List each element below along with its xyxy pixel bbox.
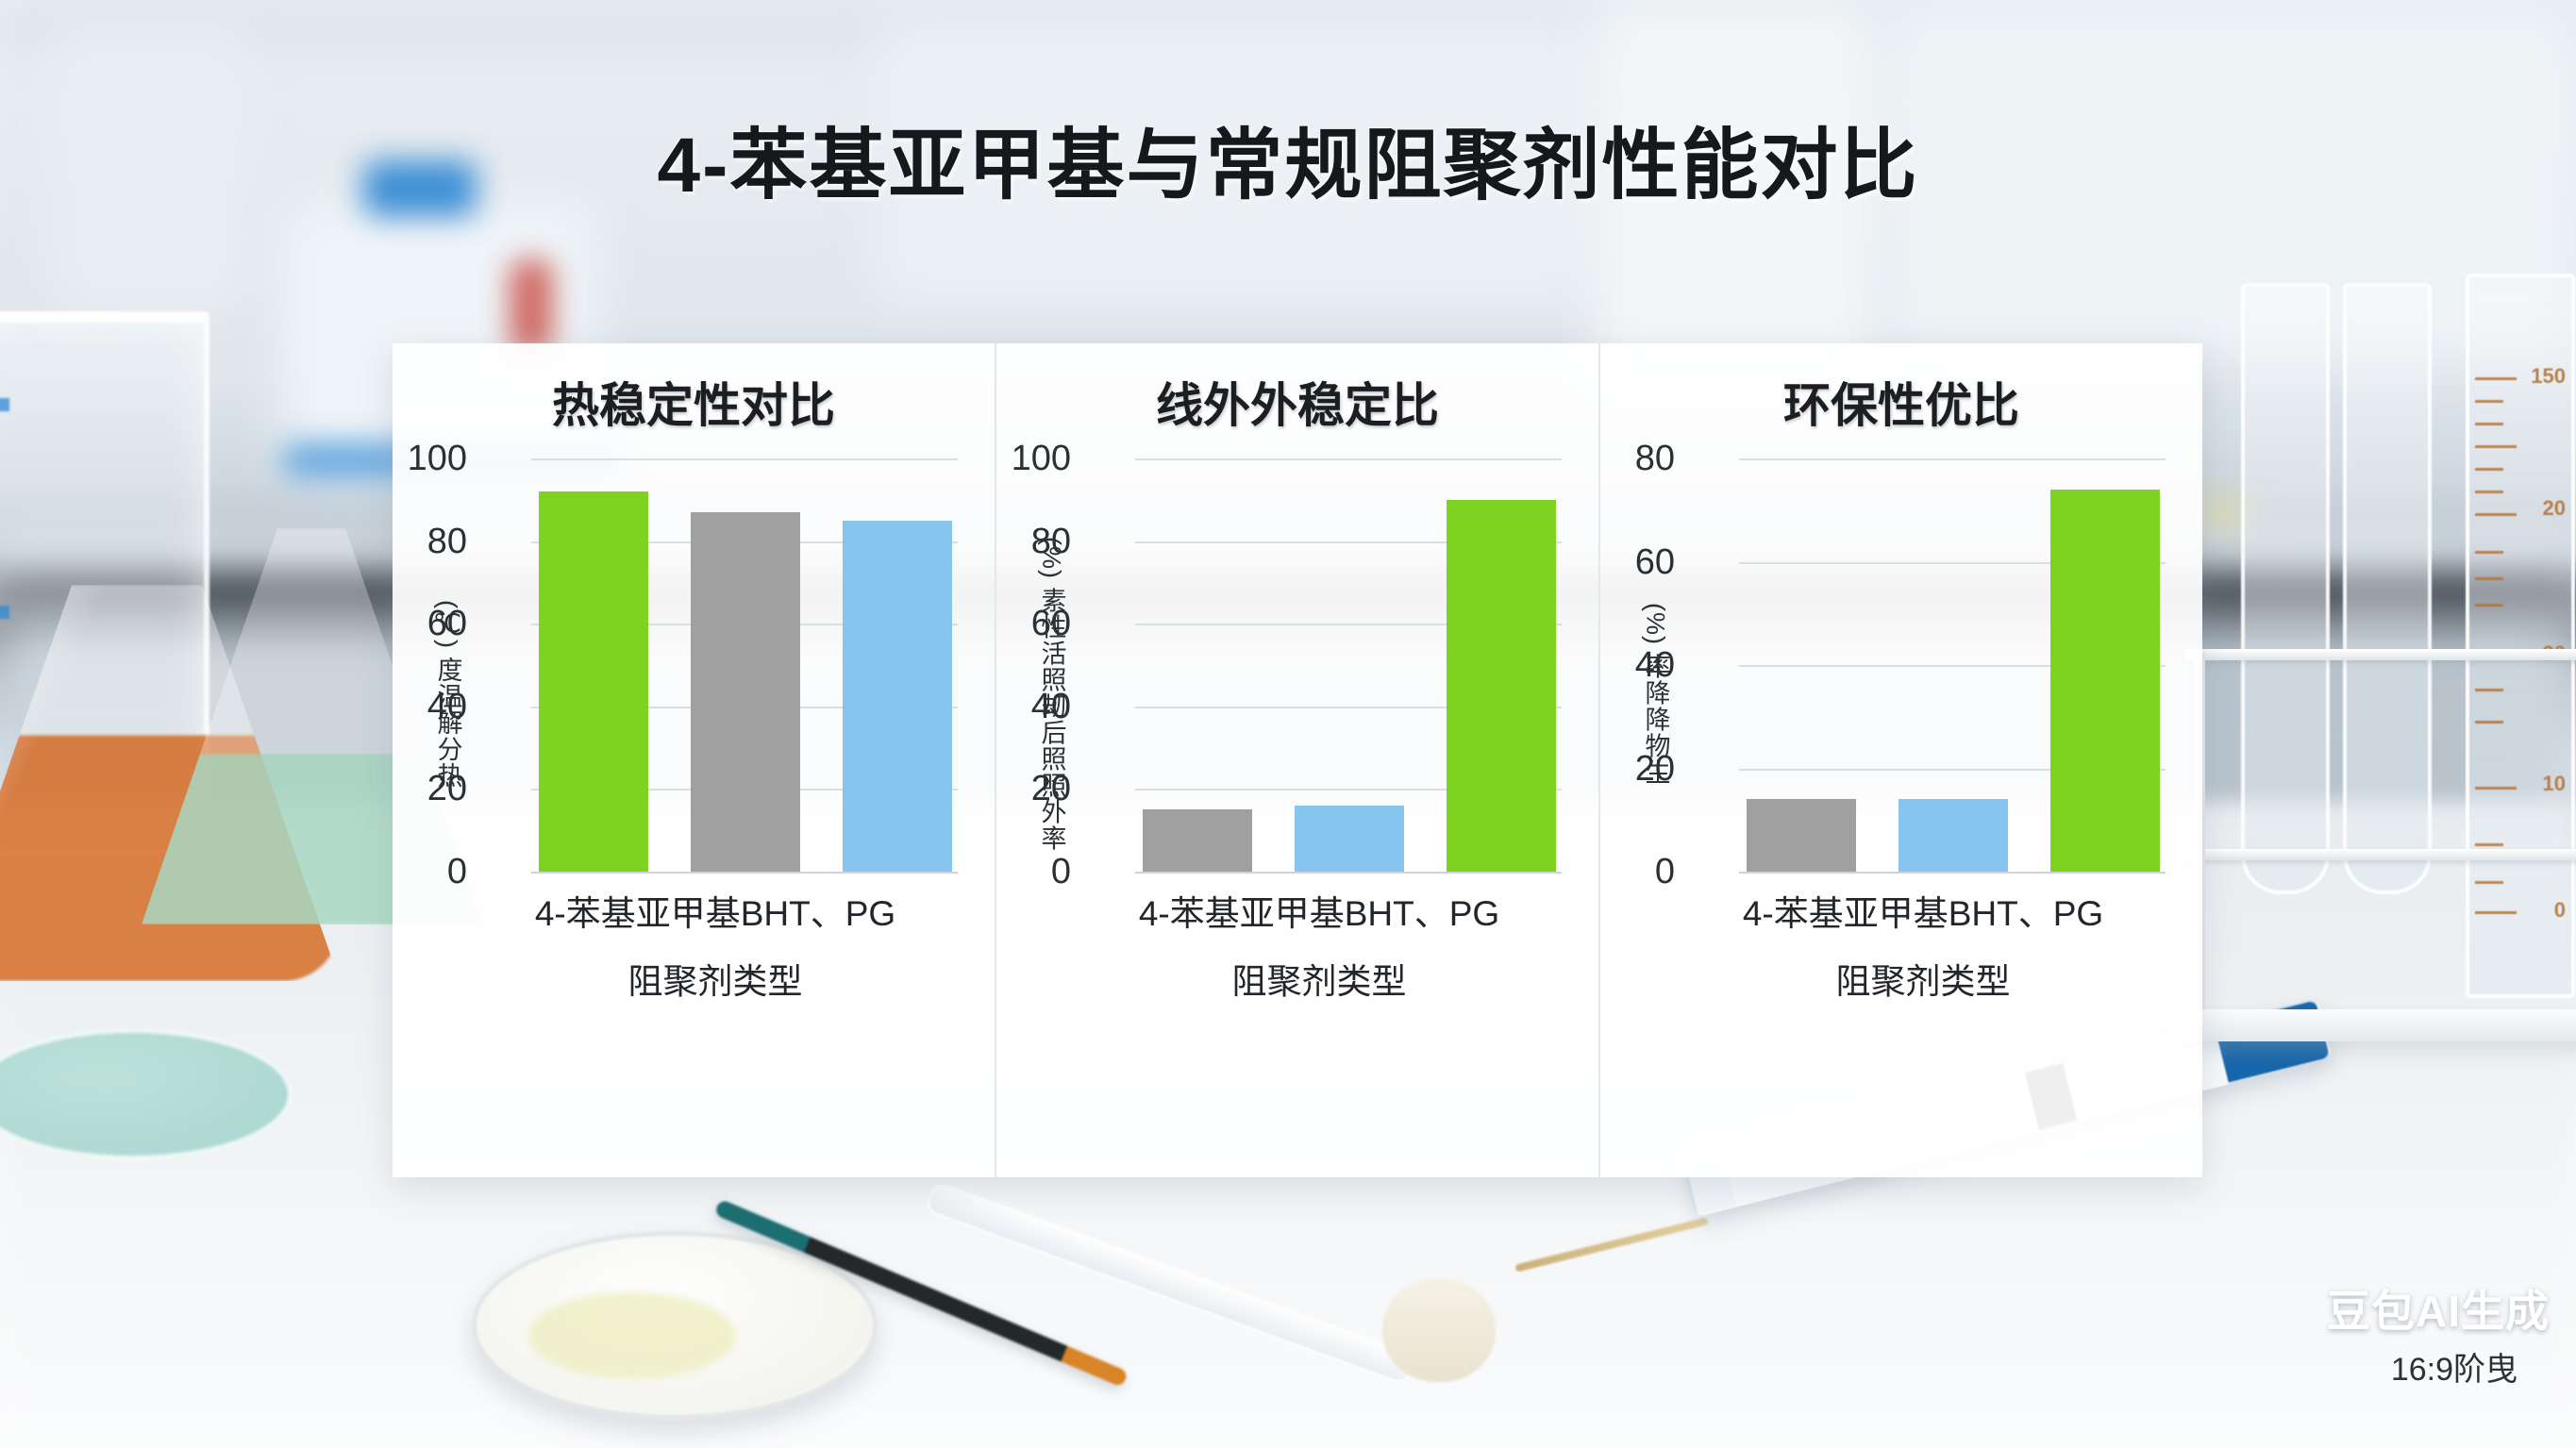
bar[interactable] — [1447, 500, 1556, 872]
y-tick-label: 80 — [1031, 524, 1071, 559]
panel-title: 线外外稳定比 — [1156, 368, 1439, 436]
bar[interactable] — [1899, 799, 2008, 872]
chart-card: 热稳定性对比 (℃) 度温解分热 100 80 60 40 20 0 4-苯基亚… — [393, 343, 2202, 1177]
bar[interactable] — [1747, 799, 1856, 872]
cylinder-tick — [2475, 377, 2517, 380]
plot-area: (℃) 度温解分热 100 80 60 40 20 0 4-苯基亚甲基BHT、P… — [429, 458, 958, 940]
cylinder-tick — [2475, 551, 2503, 554]
cylinder-tick-label: 0 — [2554, 898, 2566, 923]
y-axis: 100 80 60 40 20 0 — [473, 458, 958, 872]
bar[interactable] — [539, 491, 648, 872]
test-tube-rack: 150 20 20 10 0 — [2203, 283, 2576, 1038]
cylinder-tick-label: 20 — [2543, 496, 2566, 521]
cylinder-tick-label: 150 — [2531, 364, 2566, 389]
panel-title: 环保性优比 — [1783, 368, 2019, 436]
chart-panel-thermal-stability: 热稳定性对比 (℃) 度温解分热 100 80 60 40 20 0 4-苯基亚… — [393, 343, 995, 1177]
gridline — [1135, 872, 1562, 874]
bar[interactable] — [2050, 490, 2160, 872]
beaker-band — [0, 606, 9, 619]
x-axis-title: 阻聚剂类型 — [1681, 953, 2166, 1004]
cylinder-tick — [2475, 881, 2503, 884]
cylinder-tick — [2475, 423, 2503, 425]
gridline — [1739, 872, 2166, 874]
bar[interactable] — [843, 521, 952, 872]
pipette-bulb — [1382, 1278, 1496, 1382]
petri-liquid — [528, 1292, 736, 1379]
chart-panel-eco-friendliness: 环保性优比 (%) 率降降物生 80 60 40 20 0 4-苯基亚甲基BHT… — [1598, 343, 2202, 1177]
y-tick-label: 100 — [408, 441, 467, 476]
cylinder-tick — [2475, 445, 2517, 448]
test-tube — [2343, 283, 2432, 894]
x-axis-title: 阻聚剂类型 — [473, 953, 958, 1004]
watermark: 豆包AI生成 16:9阶曳 — [2327, 1277, 2550, 1390]
watermark-aspect-note: 16:9阶曳 — [2327, 1343, 2517, 1390]
graduated-cylinder: 150 20 20 10 0 — [2466, 274, 2575, 998]
panel-title: 热稳定性对比 — [552, 368, 835, 436]
cylinder-tick — [2475, 787, 2517, 790]
x-axis-title: 阻聚剂类型 — [1077, 953, 1562, 1004]
bar[interactable] — [1143, 809, 1252, 872]
x-axis-categories: 4-苯基亚甲基BHT、PG — [473, 885, 958, 936]
page-title: 4-苯基亚甲基与常规阻聚剂性能对比 — [0, 102, 2576, 214]
y-tick-label: 60 — [1031, 606, 1071, 641]
bar-group — [539, 458, 952, 872]
y-tick-label: 60 — [427, 606, 467, 641]
y-tick-label: 80 — [427, 524, 467, 559]
bar-group — [1747, 458, 2160, 872]
y-axis: 100 80 60 40 20 0 — [1077, 458, 1562, 872]
rack-rail-upper — [2184, 649, 2576, 660]
bar[interactable] — [1295, 806, 1404, 872]
cylinder-tick — [2475, 843, 2503, 846]
cylinder-tick — [2475, 577, 2503, 580]
rack-base — [2166, 1009, 2576, 1041]
y-tick-label: 20 — [1635, 751, 1675, 787]
cylinder-tick — [2475, 491, 2503, 493]
gridline — [531, 872, 958, 874]
y-tick-label: 40 — [1031, 689, 1071, 724]
bar-group — [1143, 458, 1556, 872]
cylinder-tick — [2475, 400, 2503, 403]
y-axis: 80 60 40 20 0 — [1681, 458, 2166, 872]
cylinder-tick — [2475, 604, 2503, 607]
plot-area: (%) 素性活照刼后照照外率 100 80 60 40 20 0 4-苯基亚甲基… — [1033, 458, 1562, 940]
y-tick-label: 0 — [447, 854, 467, 890]
cylinder-tick — [2475, 721, 2503, 724]
x-axis-categories: 4-苯基亚甲基BHT、PG — [1681, 885, 2166, 936]
cylinder-tick — [2475, 689, 2503, 691]
red-bottle-blur — [510, 259, 553, 354]
bar[interactable] — [691, 512, 800, 872]
chart-panel-uv-stability: 线外外稳定比 (%) 素性活照刼后照照外率 100 80 60 40 20 0 … — [995, 343, 1598, 1177]
y-tick-label: 100 — [1012, 441, 1071, 476]
y-tick-label: 0 — [1051, 854, 1071, 890]
beaker-band — [0, 398, 9, 411]
y-tick-label: 60 — [1635, 544, 1675, 580]
cylinder-tick — [2475, 468, 2503, 471]
test-tube — [2241, 283, 2330, 894]
rack-rail-lower — [2184, 849, 2576, 860]
cylinder-tick — [2475, 911, 2517, 914]
cylinder-tick — [2475, 513, 2517, 516]
y-tick-label: 40 — [1635, 647, 1675, 683]
plot-area: (%) 率降降物生 80 60 40 20 0 4-苯基亚甲基BHT、PG 阻聚… — [1637, 458, 2166, 940]
cylinder-tick-label: 10 — [2543, 772, 2566, 796]
y-tick-label: 0 — [1655, 854, 1675, 890]
x-axis-categories: 4-苯基亚甲基BHT、PG — [1077, 885, 1562, 936]
y-tick-label: 40 — [427, 689, 467, 724]
y-tick-label: 80 — [1635, 441, 1675, 476]
y-tick-label: 20 — [427, 771, 467, 807]
watermark-brand: 豆包AI生成 — [2327, 1277, 2550, 1340]
y-tick-label: 20 — [1031, 771, 1071, 807]
